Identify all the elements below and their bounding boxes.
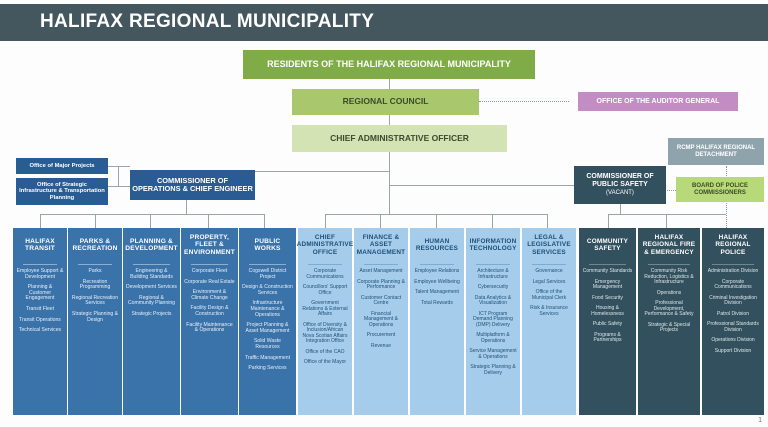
department-item-list: Administration DivisionCorporate Communi… [702,269,764,363]
department-item[interactable]: Corporate Communications [301,269,349,280]
department-item[interactable]: Office of the Mayor [301,360,349,366]
commissioner-of-public-safety-box[interactable]: COMMISSIONER OF PUBLIC SAFETY (VACANT) [574,166,666,204]
department-item[interactable]: Councillors' Support Office [301,285,349,296]
department-title: PARKS & RECREATION [68,228,122,262]
department-divider [420,264,454,265]
department-divider [23,264,57,265]
department-divider [364,264,398,265]
department-item[interactable]: Technical Services [16,328,64,334]
page-title: HALIFAX REGIONAL MUNICIPALITY [40,11,374,33]
department-column-halifax-transit[interactable]: HALIFAX TRANSITEmployee Support & Develo… [13,228,67,415]
department-item[interactable]: Cogswell District Project [242,269,293,280]
connector-ops-down [186,200,187,214]
department-item[interactable]: Operations [641,291,697,297]
department-item-list: Community Risk Reduction, Logistics & In… [638,269,700,343]
department-item[interactable]: Traffic Management [242,356,293,362]
department-divider [249,264,286,265]
department-item[interactable]: Design & Construction Services [242,285,293,296]
commissioner-of-operations-box[interactable]: COMMISSIONER OF OPERATIONS & CHIEF ENGIN… [130,170,255,200]
office-of-auditor-general-box[interactable]: OFFICE OF THE AUDITOR GENERAL [578,92,738,111]
connector-support-vertical [118,166,119,186]
department-item-list: Employee RelationsEmployee WellbeingTale… [410,269,464,315]
department-item[interactable]: Procurement [357,333,405,339]
department-item[interactable]: Parks [71,269,119,275]
connector-council-auditor [479,101,569,102]
department-item[interactable]: Customer Contact Centre [357,296,405,307]
department-item[interactable]: Corporate Real Estate [184,280,235,286]
public-safety-vacant-note: (VACANT) [604,190,636,197]
connector-safety-spine [608,214,726,215]
department-item[interactable]: Total Rewards [413,301,461,307]
department-item[interactable]: Corporate Communications [705,280,761,291]
office-of-strategic-infrastructure-box[interactable]: Office of Strategic Infrastructure & Tra… [16,178,108,205]
department-column-human-resources[interactable]: HUMAN RESOURCESEmployee RelationsEmploye… [410,228,464,415]
chief-administrative-officer-box[interactable]: CHIEF ADMINISTRATIVE OFFICER [292,125,507,152]
department-item[interactable]: Patrol Division [705,312,761,318]
department-item[interactable]: Criminal Investigation Division [705,296,761,307]
department-column-legal-legislative-services[interactable]: LEGAL & LEGISLATIVE SERVICESGovernanceLe… [522,228,576,415]
department-item[interactable]: Professional Development, Performance & … [641,301,697,318]
connector-cao-t2 [380,214,381,228]
department-item[interactable]: Facility Design & Construction [184,306,235,317]
department-item[interactable]: Programs & Partnerships [582,333,633,344]
department-item[interactable]: Architecture & Infrastructure [469,269,517,280]
connector-ops-t4 [208,214,209,228]
department-title: PROPERTY, FLEET & ENVIRONMENT [181,228,238,262]
department-item-list: GovernanceLegal ServicesOffice of the Mu… [522,269,576,326]
department-item[interactable]: Administration Division [705,269,761,275]
department-item[interactable]: Corporate Fleet [184,269,235,275]
department-column-property-fleet-environment[interactable]: PROPERTY, FLEET & ENVIRONMENTCorporate F… [181,228,238,415]
department-title: PUBLIC WORKS [239,228,296,262]
department-item-list: Asset ManagementCorporate Planning & Per… [354,269,408,358]
department-item[interactable]: Employee Support & Development [16,269,64,280]
department-item[interactable]: Project Planning & Asset Management [242,323,293,334]
department-item[interactable]: Parking Services [242,366,293,372]
department-item[interactable]: Housing & Homelessness [582,306,633,317]
department-item[interactable]: Corporate Planning & Performance [357,280,405,291]
department-item[interactable]: Transit Fleet [16,307,64,313]
department-item-list: Employee Support & DevelopmentPlanning &… [13,269,67,343]
department-divider [191,264,228,265]
connector-council-cao [389,115,390,125]
department-item[interactable]: Asset Management [357,269,405,275]
department-item[interactable]: Recreation Programming [71,280,119,291]
department-item[interactable]: Service Management & Operations [469,349,517,360]
department-item[interactable]: Community Standards [582,269,633,275]
department-item[interactable]: Infrastructure Maintenance & Operations [242,301,293,318]
connector-strategic-infra [108,186,130,187]
rcmp-halifax-detachment-box[interactable]: RCMP HALIFAX REGIONAL DETACHMENT [668,138,764,165]
connector-cao-t5 [547,214,548,228]
connector-ops-t1 [40,214,41,228]
department-divider [78,264,112,265]
board-of-police-commissioners-box[interactable]: BOARD OF POLICE COMMISSIONERS [676,177,764,202]
connector-cao-t4 [492,214,493,228]
page-number: 1 [758,417,762,424]
department-item[interactable]: Facility Maintenance & Operations [184,323,235,334]
department-item-list: Corporate CommunicationsCouncillors' Sup… [298,269,352,375]
department-item[interactable]: Food Security [582,296,633,302]
department-title: COMMUNITY SAFETY [579,228,636,262]
department-item[interactable]: Employee Relations [413,269,461,275]
department-item[interactable]: Office of the Municipal Clerk [525,290,573,301]
department-item[interactable]: Office of the CAO [301,350,349,356]
department-title: HUMAN RESOURCES [410,228,464,262]
connector-cao-t3 [436,214,437,228]
department-item[interactable]: Community Risk Reduction, Logistics & In… [641,269,697,286]
connector-safety-t2 [666,214,667,228]
regional-council-box[interactable]: REGIONAL COUNCIL [292,89,479,115]
department-item[interactable]: Development Services [126,285,177,291]
office-of-major-projects-box[interactable]: Office of Major Projects [16,158,108,174]
department-divider [712,264,754,265]
department-divider [532,264,566,265]
department-column-information-technology[interactable]: INFORMATION TECHNOLOGYArchitecture & Inf… [466,228,520,415]
department-item[interactable]: Office of Diversity & Inclusion/African … [301,323,349,345]
department-item[interactable]: Professional Standards Division [705,322,761,333]
department-item[interactable]: Cybersecurity [469,285,517,291]
department-column-public-works[interactable]: PUBLIC WORKSCogswell District ProjectDes… [239,228,296,415]
department-item[interactable]: Transit Operations [16,318,64,324]
department-item[interactable]: Environment & Climate Change [184,290,235,301]
department-item[interactable]: Government Relations & External Affairs [301,301,349,318]
connector-cao-down [389,152,390,214]
department-column-finance-asset-management[interactable]: FINANCE & ASSET MANAGEMENTAsset Manageme… [354,228,408,415]
department-item-list: Community StandardsEmergency ManagementF… [579,269,636,353]
connector-cao-safety [389,185,574,186]
department-item[interactable]: Public Safety [582,322,633,328]
department-item[interactable]: Support Division [705,349,761,355]
department-divider [308,264,342,265]
department-column-halifax-regional-fire-emergency[interactable]: HALIFAX REGIONAL FIRE & EMERGENCYCommuni… [638,228,700,415]
connector-ops-spine [40,214,264,215]
connector-ops-t2 [95,214,96,228]
department-item-list: Corporate FleetCorporate Real EstateEnvi… [181,269,238,343]
department-item[interactable]: Governance [525,269,573,275]
department-item[interactable]: Data Analytics & Visualization [469,296,517,307]
department-item[interactable]: Risk & Insurance Services [525,306,573,317]
department-item[interactable]: Solid Waste Resources [242,339,293,350]
department-item[interactable]: Regional & Community Planning [126,296,177,307]
department-divider [648,264,690,265]
department-item[interactable]: Strategic Planning & Design [71,312,119,323]
connector-residents-council [389,79,390,89]
connector-safety-t1 [608,214,609,228]
department-item[interactable]: Talent Management [413,290,461,296]
department-item[interactable]: Revenue [357,344,405,350]
department-item-list: Cogswell District ProjectDesign & Constr… [239,269,296,381]
department-title: LEGAL & LEGISLATIVE SERVICES [522,228,576,262]
department-title: HALIFAX REGIONAL FIRE & EMERGENCY [638,228,700,262]
department-title: PLANNING & DEVELOPMENT [123,228,180,262]
connector-major-projects [108,166,130,167]
department-item[interactable]: Financial Management & Operations [357,312,405,329]
connector-cao-ops [242,171,390,172]
connector-ops-t5 [264,214,265,228]
department-item[interactable]: Employee Wellbeing [413,280,461,286]
department-item-list: Engineering & Building StandardsDevelopm… [123,269,180,327]
department-column-chief-administrative-office[interactable]: CHIEF ADMINISTRATIVE OFFICECorporate Com… [298,228,352,415]
department-title: HALIFAX TRANSIT [13,228,67,262]
department-item-list: Architecture & InfrastructureCybersecuri… [466,269,520,385]
department-title: CHIEF ADMINISTRATIVE OFFICE [298,228,352,262]
department-item[interactable]: Regional Recreation Services [71,296,119,307]
department-column-community-safety[interactable]: COMMUNITY SAFETYCommunity StandardsEmerg… [579,228,636,415]
residents-box[interactable]: RESIDENTS OF THE HALIFAX REGIONAL MUNICI… [243,50,535,79]
department-item[interactable]: Multiplatform & Operations [469,333,517,344]
department-column-halifax-regional-police[interactable]: HALIFAX REGIONAL POLICEAdministration Di… [702,228,764,415]
department-item[interactable]: Engineering & Building Standards [126,269,177,280]
department-item-list: ParksRecreation ProgrammingRegional Recr… [68,269,122,332]
department-item[interactable]: Strategic Projects [126,312,177,318]
connector-safety-down [620,204,621,214]
department-divider [476,264,510,265]
department-item[interactable]: Operations Division [705,338,761,344]
department-item[interactable]: Planning & Customer Engagement [16,285,64,302]
department-divider [589,264,626,265]
connector-cao-t1 [325,214,326,228]
org-chart-page: HALIFAX REGIONAL MUNICIPALITY RESIDENTS … [0,0,768,427]
department-divider [133,264,170,265]
department-title: HALIFAX REGIONAL POLICE [702,228,764,262]
department-title: INFORMATION TECHNOLOGY [466,228,520,262]
department-title: FINANCE & ASSET MANAGEMENT [354,228,408,262]
department-item[interactable]: Strategic & Special Projects [641,323,697,334]
department-column-planning-development[interactable]: PLANNING & DEVELOPMENTEngineering & Buil… [123,228,180,415]
department-item[interactable]: Legal Services [525,280,573,286]
department-column-parks-recreation[interactable]: PARKS & RECREATIONParksRecreation Progra… [68,228,122,415]
department-item[interactable]: ICT Program Demand Planning (DMP) Delive… [469,312,517,329]
connector-ops-t3 [150,214,151,228]
department-item[interactable]: Strategic Planning & Delivery [469,365,517,376]
department-item[interactable]: Emergency Management [582,280,633,291]
